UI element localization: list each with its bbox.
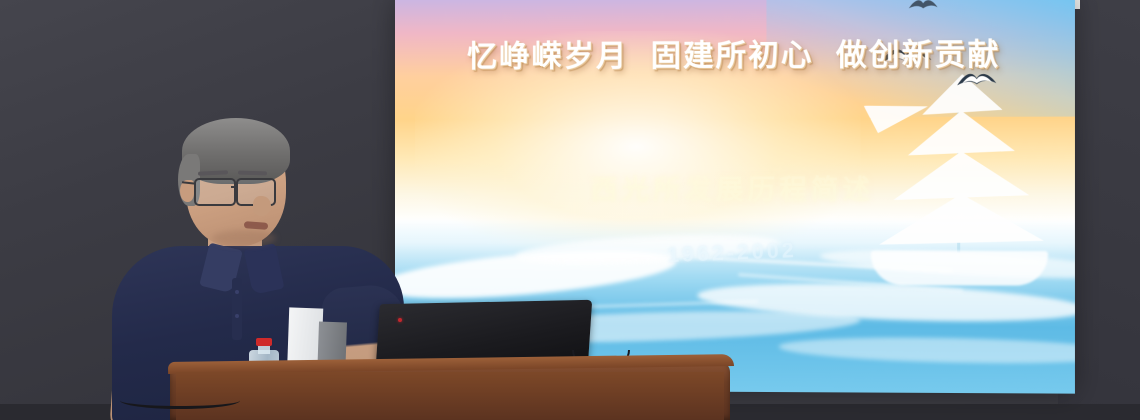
presenter-chin-shadow — [212, 230, 276, 246]
ship-sail — [908, 111, 1015, 156]
slide-title: 忆峥嵘岁月固建所初心做创新贡献 — [395, 29, 1075, 76]
polo-placket — [232, 278, 242, 340]
shirt-button — [235, 290, 239, 294]
slide-title-part-2: 固建所初心 — [651, 39, 814, 73]
floor-cable — [120, 392, 240, 409]
laptop-indicator-light — [398, 318, 402, 322]
presenter-nose — [253, 196, 271, 216]
shirt-button — [235, 314, 239, 318]
ship-jib-sail — [864, 89, 932, 135]
bottle-cap — [256, 338, 272, 346]
eyeglasses-left-lens — [194, 178, 236, 206]
lectern-front — [176, 372, 724, 420]
presentation-photo: 忆峥嵘岁月固建所初心做创新贡献 西光所发展历程简述 1962-2002 14:3… — [0, 0, 1140, 420]
seagull-icon — [908, 0, 939, 11]
wave-crest — [779, 334, 1075, 366]
eyeglasses-bridge — [231, 186, 238, 188]
slide-subtitle: 西光所发展历程简述 — [395, 168, 1075, 208]
slide-title-part-1: 忆峥嵘岁月 — [467, 40, 628, 74]
slide-title-part-3: 做创新贡献 — [836, 38, 1001, 72]
